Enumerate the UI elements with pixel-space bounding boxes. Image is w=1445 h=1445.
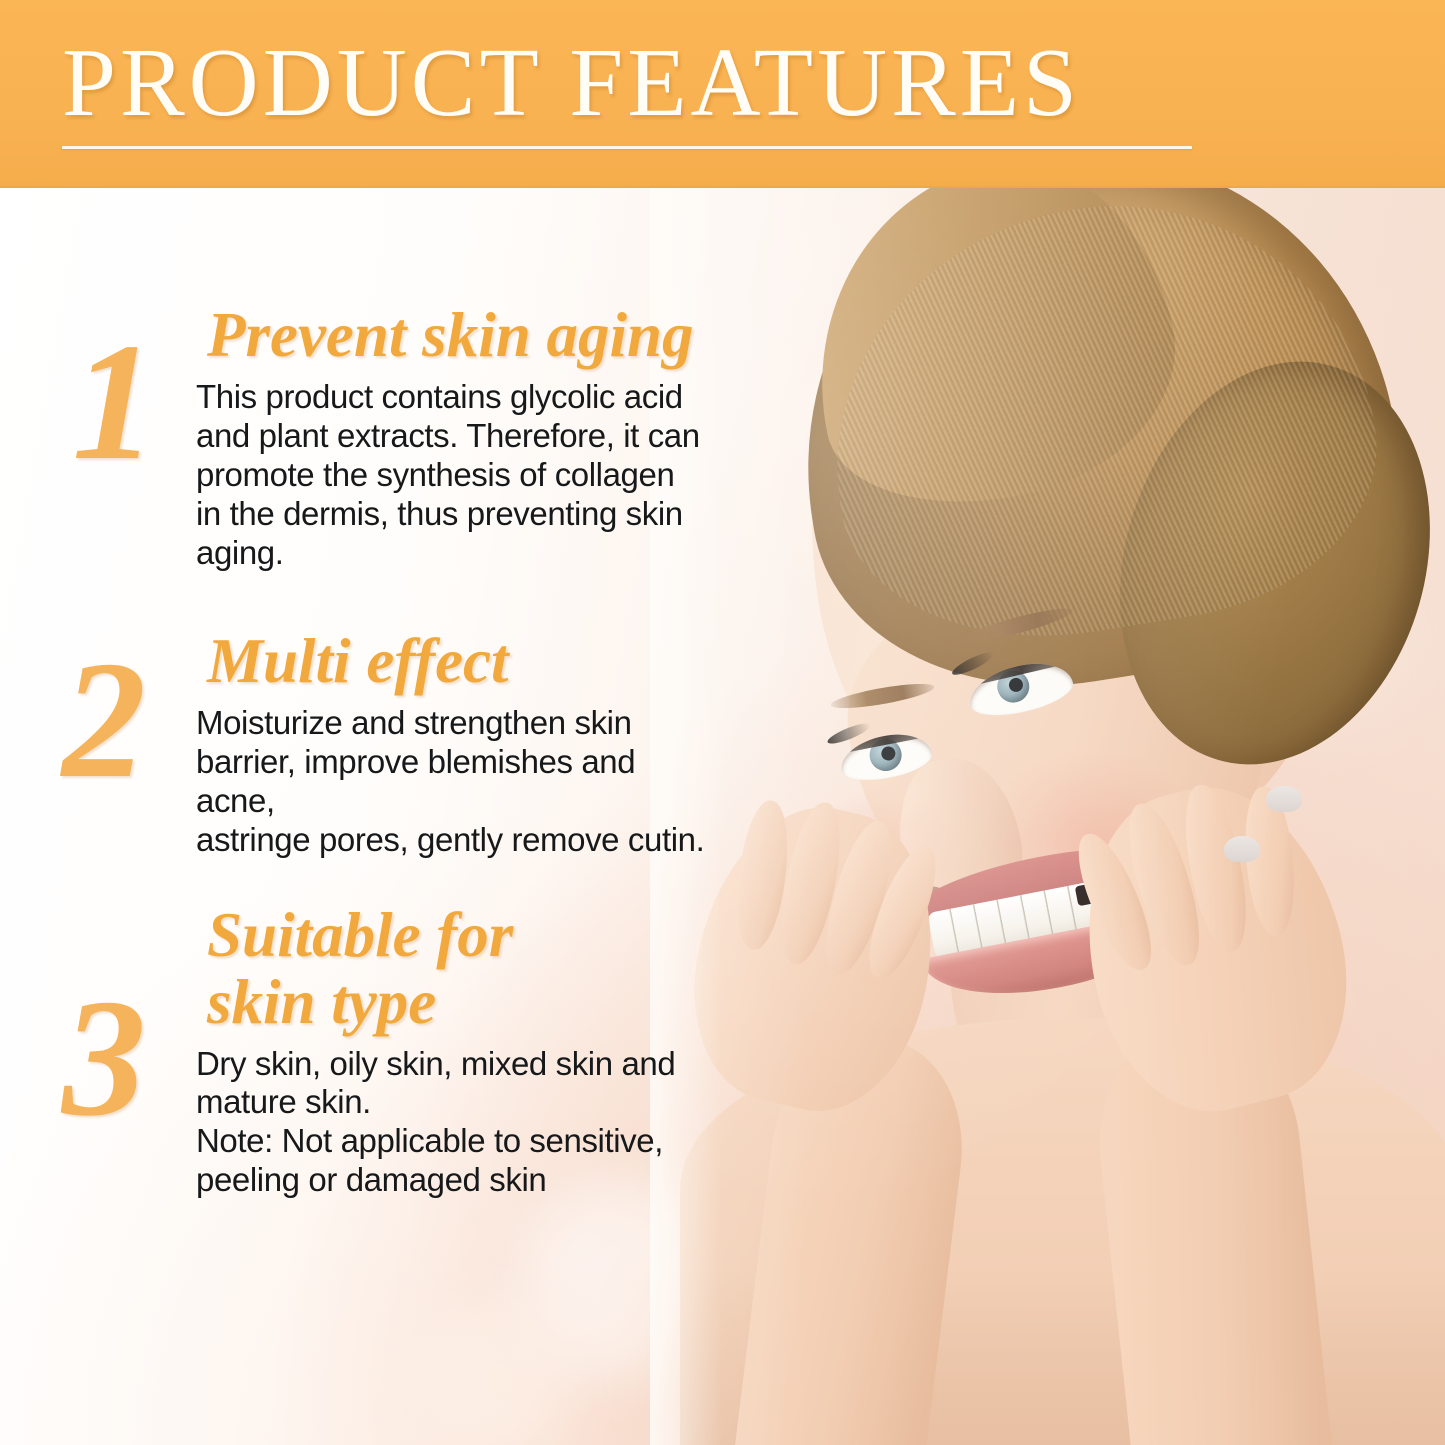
feature-content-3: Suitable for skin type Dry skin, oily sk… (196, 902, 720, 1200)
feature-list: 1 Prevent skin aging This product contai… (0, 188, 720, 1200)
product-features-page: PRODUCT FEATURES 1 Prevent skin aging Th… (0, 0, 1445, 1445)
feature-item-3: 3 Suitable for skin type Dry skin, oily … (0, 902, 720, 1200)
feature-number-3: 3 (62, 974, 146, 1142)
feature-title-2: Multi effect (207, 628, 706, 695)
page-title: PRODUCT FEATURES (62, 34, 1081, 131)
feature-item-1: 1 Prevent skin aging This product contai… (0, 302, 720, 572)
feature-number-1: 1 (72, 318, 156, 486)
feature-content-1: Prevent skin aging This product contains… (196, 302, 720, 572)
feature-item-2: 2 Multi effect Moisturize and strengthen… (0, 628, 720, 860)
feature-text-2: Moisturize and strengthen skin barrier, … (196, 704, 706, 860)
header-banner: PRODUCT FEATURES (0, 0, 1445, 188)
feature-title-3: Suitable for skin type (207, 902, 706, 1036)
feature-text-1: This product contains glycolic acid and … (196, 378, 706, 573)
model-fingernail (1224, 836, 1260, 862)
feature-title-1: Prevent skin aging (207, 302, 706, 369)
feature-text-3: Dry skin, oily skin, mixed skin and matu… (196, 1045, 706, 1201)
model-fingernail (1266, 786, 1302, 812)
feature-number-2: 2 (62, 636, 146, 804)
title-underline (62, 146, 1192, 149)
feature-content-2: Multi effect Moisturize and strengthen s… (196, 628, 720, 860)
model-photo (650, 188, 1445, 1445)
